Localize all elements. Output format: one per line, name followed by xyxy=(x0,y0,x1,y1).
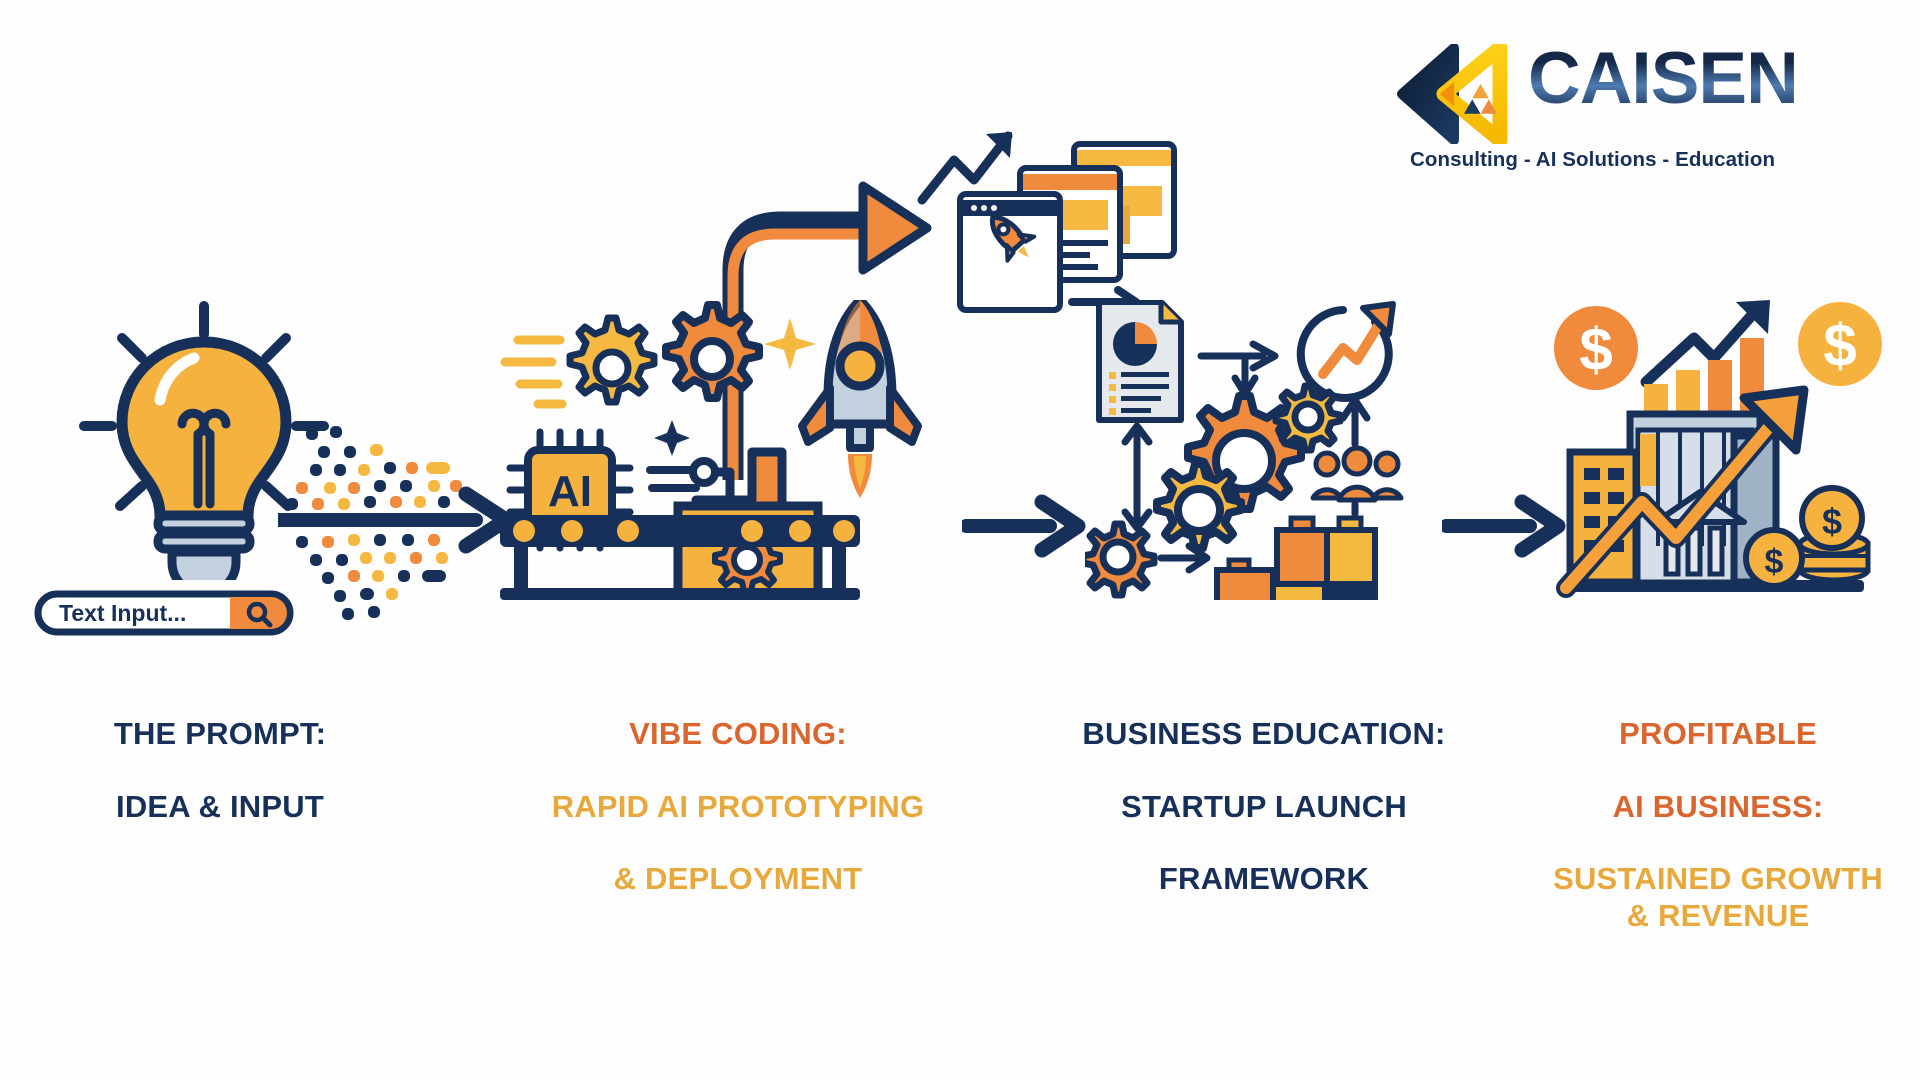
step-business-education: BUSINESS EDUCATION: STARTUP LAUNCH FRAME… xyxy=(1085,300,1425,605)
svg-text:$: $ xyxy=(1822,501,1842,542)
step-vibe-coding-title-3: & DEPLOYMENT xyxy=(488,861,988,897)
people-group-icon xyxy=(1313,448,1401,500)
brand-logo: CAISEN Consulting - AI Solutions - Educa… xyxy=(1396,44,1856,174)
step-business-education-title-2: STARTUP LAUNCH xyxy=(1069,789,1459,825)
ai-chip-label: AI xyxy=(548,467,592,516)
search-input-placeholder: Text Input... xyxy=(59,600,186,627)
step-profitable-title-3: SUSTAINED GROWTH & REVENUE xyxy=(1508,861,1920,934)
split-arrow-icon xyxy=(1201,344,1275,394)
gear-icon-orange xyxy=(666,305,759,398)
business-education-illustration xyxy=(1085,300,1405,600)
caisen-logo-mark xyxy=(1396,44,1526,144)
step-vibe-coding-label: VIBE CODING: RAPID AI PROTOTYPING & DEPL… xyxy=(488,680,988,934)
double-arrow-icon xyxy=(1125,426,1149,528)
step-vibe-coding-title-2: RAPID AI PROTOTYPING xyxy=(488,789,988,825)
dollar-coin-icon-left: $ xyxy=(1554,306,1638,390)
document-chart-icon xyxy=(1099,302,1181,420)
speed-lines-icon xyxy=(505,340,562,404)
search-input[interactable]: Text Input... xyxy=(34,590,294,636)
step-profitable-title-1: PROFITABLE xyxy=(1508,716,1920,752)
svg-text:$: $ xyxy=(1579,316,1612,383)
step-business-education-title-1: BUSINESS EDUCATION: xyxy=(1069,716,1459,752)
svg-text:$: $ xyxy=(1823,312,1856,379)
step-prompt-title-1: THE PROMPT: xyxy=(40,716,400,752)
briefcase-stack-icon xyxy=(1215,518,1377,600)
step-vibe-coding-title-1: VIBE CODING: xyxy=(488,716,988,752)
step-profitable-ai-business: $ $ xyxy=(1548,300,1888,605)
vibe-coding-illustration: AI xyxy=(500,300,960,600)
rocket-icon-large xyxy=(802,300,918,498)
step-profitable-label: PROFITABLE AI BUSINESS: SUSTAINED GROWTH… xyxy=(1508,680,1920,970)
dollar-coin-icon-right: $ xyxy=(1798,302,1882,386)
trend-arrow-icon xyxy=(922,132,1012,200)
sparkle-icon-large xyxy=(764,318,816,370)
bulb-base-icon xyxy=(158,516,250,580)
sparkle-icon-small xyxy=(654,420,690,456)
up-arrow-icon xyxy=(1343,400,1367,444)
step-prompt-title-2: IDEA & INPUT xyxy=(40,789,400,825)
step-profitable-title-2: AI BUSINESS: xyxy=(1508,789,1920,825)
gear-icon-yellow xyxy=(570,318,654,402)
brand-tagline: Consulting - AI Solutions - Education xyxy=(1410,148,1775,172)
connector-1-arrow-with-data-dots xyxy=(278,420,528,620)
step-prompt-label: THE PROMPT: IDEA & INPUT xyxy=(40,680,400,861)
gear-icon-small-bottom xyxy=(1085,524,1154,595)
step-business-education-label: BUSINESS EDUCATION: STARTUP LAUNCH FRAME… xyxy=(1069,680,1459,934)
infographic-canvas: CAISEN Consulting - AI Solutions - Educa… xyxy=(0,0,1920,1080)
profitable-business-illustration: $ $ xyxy=(1548,300,1888,600)
gear-to-blocks-arrow xyxy=(1161,546,1207,570)
browser-window-icon-1 xyxy=(960,194,1060,310)
step-business-education-title-3: FRAMEWORK xyxy=(1069,861,1459,897)
svg-text:$: $ xyxy=(1765,543,1784,581)
connector-2-arrow xyxy=(962,486,1092,566)
growth-circle-icon xyxy=(1301,304,1393,398)
brand-name: CAISEN xyxy=(1528,42,1798,115)
step-vibe-coding: AI xyxy=(500,300,980,605)
